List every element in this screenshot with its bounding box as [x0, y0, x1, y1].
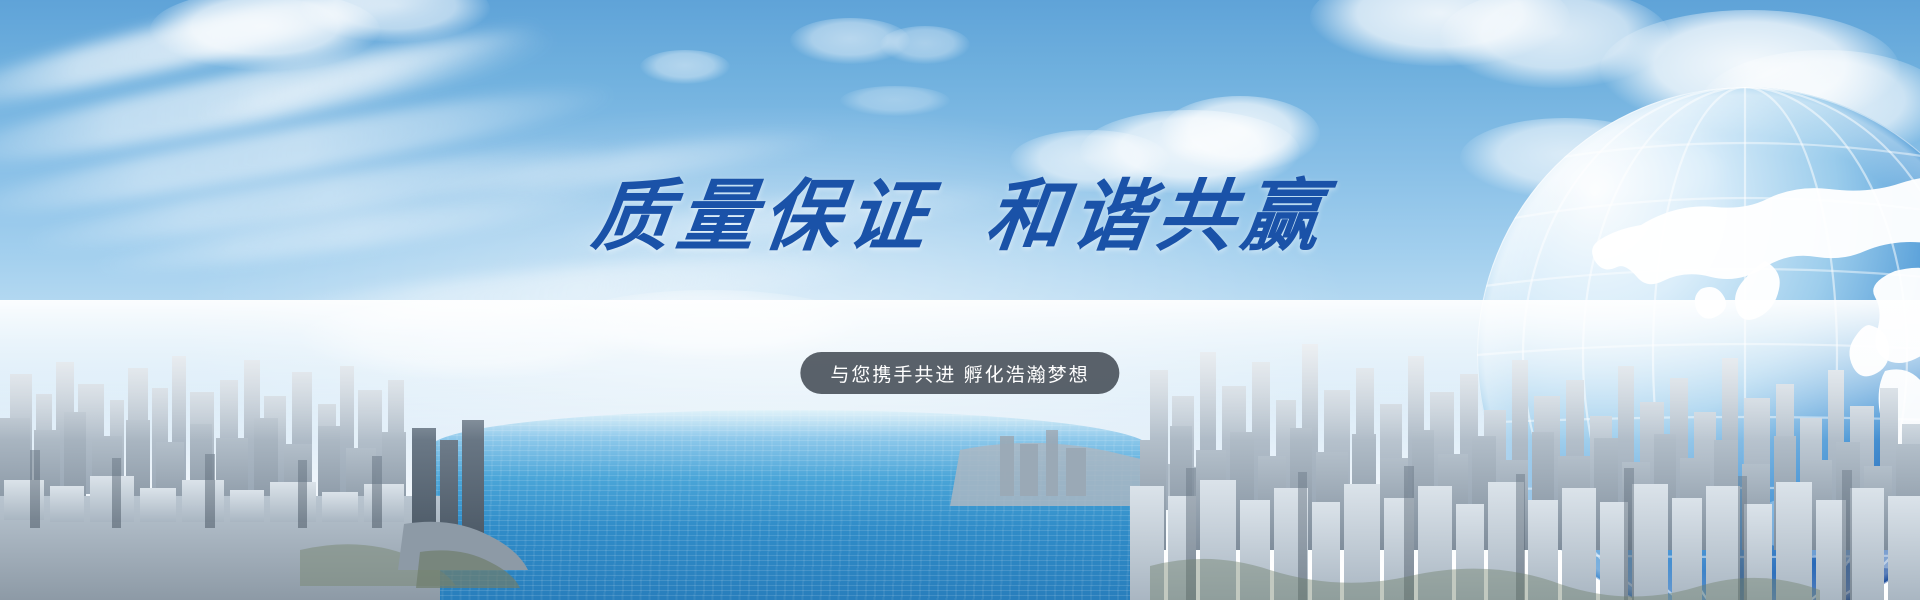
hero-banner: 质量保证和谐共赢 与您携手共进 孵化浩瀚梦想 [0, 0, 1920, 600]
banner-subtitle-text: 与您携手共进 孵化浩瀚梦想 [830, 360, 1089, 387]
sky-background [0, 0, 1920, 600]
banner-subtitle-pill[interactable]: 与您携手共进 孵化浩瀚梦想 [800, 352, 1119, 394]
